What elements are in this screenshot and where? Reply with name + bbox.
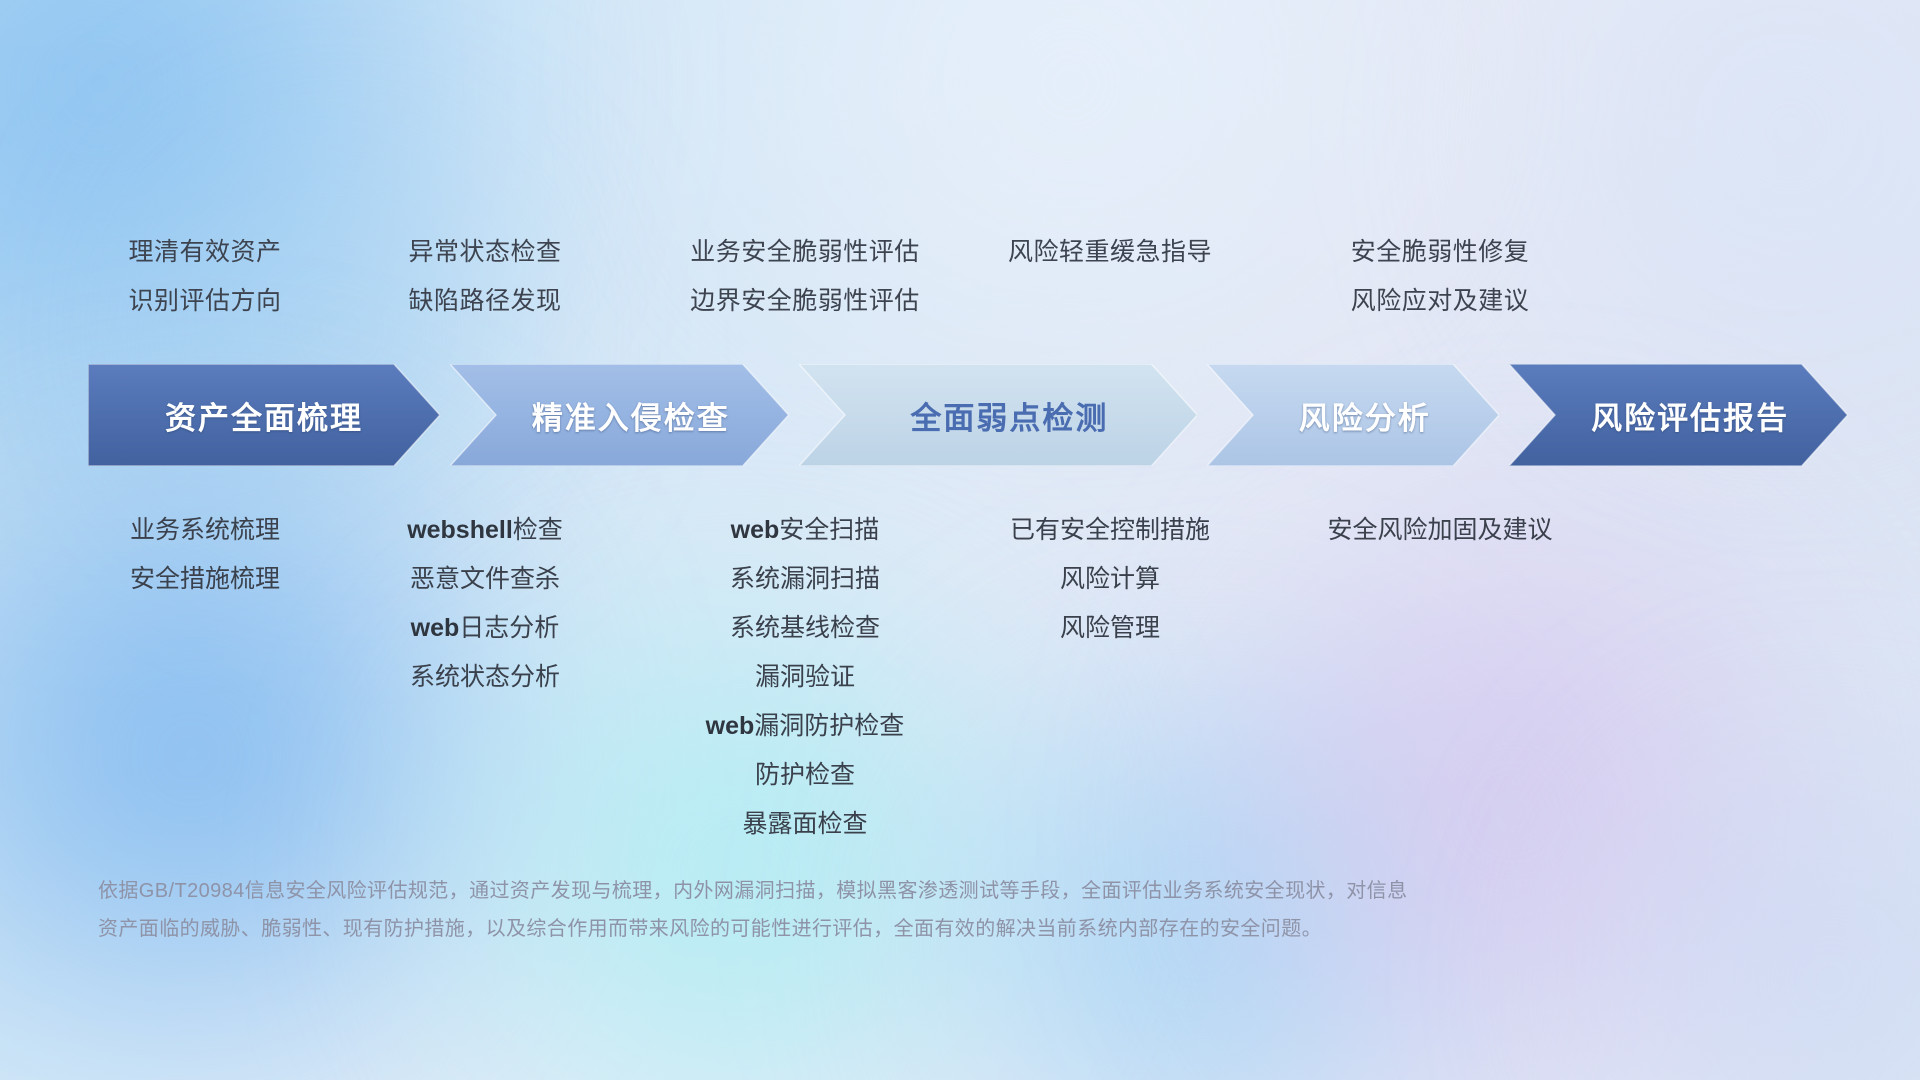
- list-item: 漏洞验证: [585, 653, 1025, 702]
- top-caption-group-5: 安全脆弱性修复风险应对及建议: [1220, 228, 1660, 326]
- list-item-keyword: web: [706, 712, 755, 740]
- process-stage-5[interactable]: 风险评估报告: [1509, 364, 1848, 466]
- list-item: 风险计算: [890, 555, 1330, 604]
- stage-label: 全面弱点检测: [910, 393, 1108, 438]
- process-stage-2[interactable]: 精准入侵检查: [450, 364, 789, 466]
- footer-description: 依据GB/T20984信息安全风险评估规范，通过资产发现与梳理，内外网漏洞扫描，…: [98, 872, 1658, 948]
- top-caption: 风险应对及建议: [1220, 277, 1660, 326]
- list-item-keyword: web: [731, 516, 780, 544]
- stage-label: 资产全面梳理: [165, 393, 363, 438]
- process-stage-3[interactable]: 全面弱点检测: [799, 364, 1197, 466]
- list-item: web漏洞防护检查: [585, 702, 1025, 751]
- list-item-keyword: web: [411, 614, 460, 642]
- top-caption: 安全脆弱性修复: [1220, 228, 1660, 277]
- footer-line: 资产面临的威胁、脆弱性、现有防护措施，以及综合作用而带来风险的可能性进行评估，全…: [98, 910, 1658, 948]
- stage-label: 风险评估报告: [1591, 393, 1789, 438]
- list-item: 安全风险加固及建议: [1220, 506, 1660, 555]
- list-item: 防护检查: [585, 751, 1025, 800]
- top-caption: 边界安全脆弱性评估: [585, 277, 1025, 326]
- list-item: 暴露面检查: [585, 800, 1025, 849]
- list-item-keyword: webshell: [407, 516, 513, 544]
- process-stage-1[interactable]: 资产全面梳理: [88, 364, 440, 466]
- detail-list-5: 安全风险加固及建议: [1220, 506, 1660, 555]
- list-item: 风险管理: [890, 604, 1330, 653]
- process-chevron-band: 资产全面梳理精准入侵检查全面弱点检测风险分析风险评估报告: [88, 364, 1848, 466]
- stage-label: 风险分析: [1299, 393, 1431, 438]
- stage-label: 精准入侵检查: [532, 393, 730, 438]
- footer-line: 依据GB/T20984信息安全风险评估规范，通过资产发现与梳理，内外网漏洞扫描，…: [98, 872, 1658, 910]
- process-stage-4[interactable]: 风险分析: [1207, 364, 1499, 466]
